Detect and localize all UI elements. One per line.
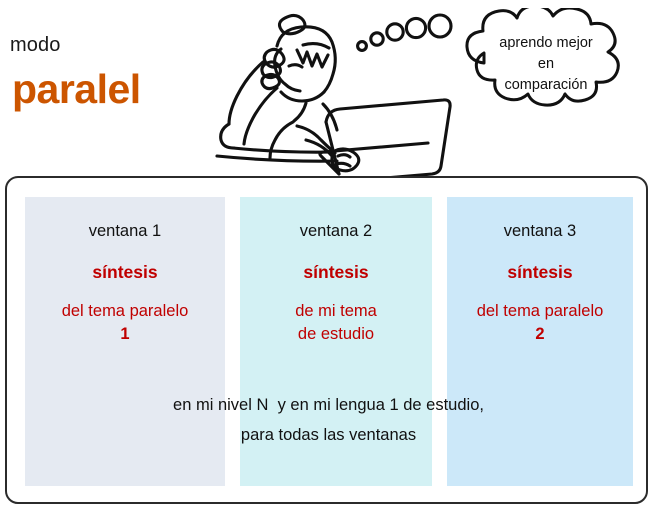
window-3-synthesis-label: síntesis xyxy=(447,262,633,282)
header-area: modo paralel xyxy=(0,0,657,176)
thought-bubble-text: aprendo mejor en comparación xyxy=(455,33,637,96)
mode-label: modo xyxy=(10,34,60,57)
parallel-mode-panel: ventana 1 síntesis del tema paralelo 1 v… xyxy=(5,176,648,504)
window-2-label: ventana 2 xyxy=(240,221,432,241)
window-1-synthesis-label: síntesis xyxy=(25,262,225,282)
mode-value-paralel: paralel xyxy=(12,66,141,113)
window-column-1-content: ventana 1 síntesis del tema paralelo 1 xyxy=(25,221,225,346)
window-2-desc-line-2: de estudio xyxy=(240,323,432,346)
window-2-description: de mi tema de estudio xyxy=(240,300,432,346)
bubble-line-3: comparación xyxy=(455,75,637,96)
window-column-3-content: ventana 3 síntesis del tema paralelo 2 xyxy=(447,221,633,346)
bubble-line-2: en xyxy=(455,54,637,75)
window-3-desc-line-1: del tema paralelo xyxy=(447,300,633,323)
window-1-desc-line-2: 1 xyxy=(25,323,225,346)
window-3-description: del tema paralelo 2 xyxy=(447,300,633,346)
window-3-label: ventana 3 xyxy=(447,221,633,241)
person-studying-at-laptop-illustration xyxy=(205,4,455,176)
window-1-desc-line-1: del tema paralelo xyxy=(25,300,225,323)
window-column-3[interactable]: ventana 3 síntesis del tema paralelo 2 xyxy=(447,197,633,486)
window-2-synthesis-label: síntesis xyxy=(240,262,432,282)
window-2-desc-line-1: de mi tema xyxy=(240,300,432,323)
window-3-desc-line-2: 2 xyxy=(447,323,633,346)
window-1-description: del tema paralelo 1 xyxy=(25,300,225,346)
bubble-line-1: aprendo mejor xyxy=(455,33,637,54)
window-1-label: ventana 1 xyxy=(25,221,225,241)
window-column-2-content: ventana 2 síntesis de mi tema de estudio xyxy=(240,221,432,346)
windows-columns: ventana 1 síntesis del tema paralelo 1 v… xyxy=(7,178,650,506)
window-column-2[interactable]: ventana 2 síntesis de mi tema de estudio xyxy=(240,197,432,486)
window-column-1[interactable]: ventana 1 síntesis del tema paralelo 1 xyxy=(25,197,225,486)
